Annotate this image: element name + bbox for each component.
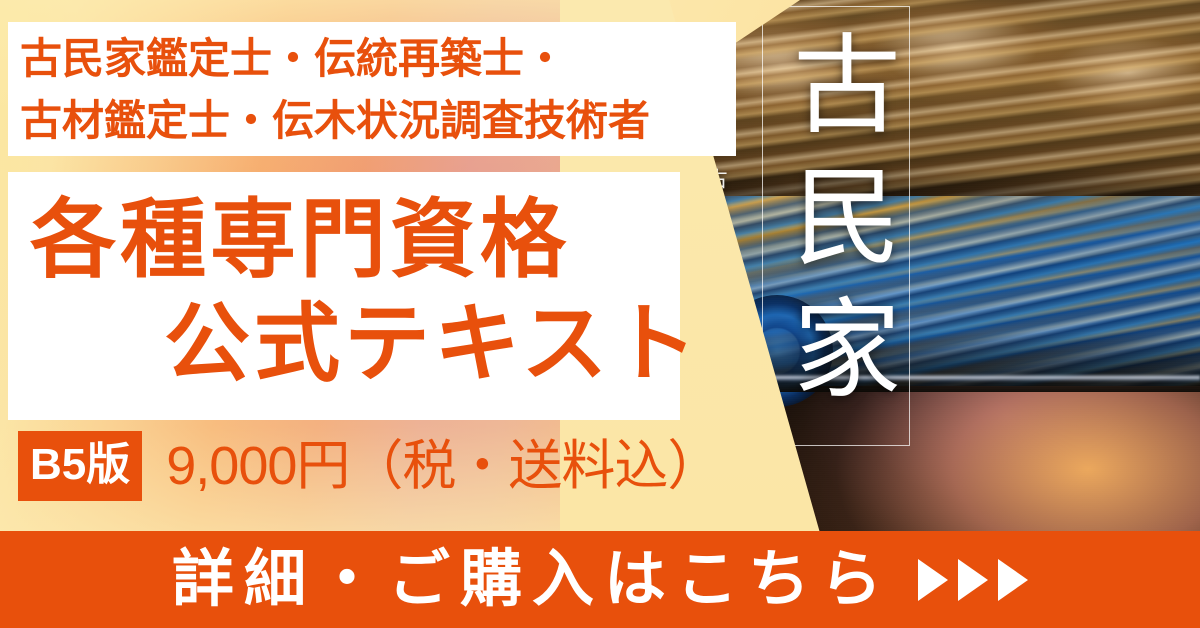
certifications-panel: 古民家鑑定士・伝統再築士・ 古材鑑定士・伝木状況調査技術者 [8,22,736,156]
certifications-line-1: 古民家鑑定士・伝統再築士・ [20,28,736,90]
chevron-right-icon [958,559,988,601]
cta-label: 詳細・ご購入はこちら [172,549,892,611]
book-size-badge: B5版 [18,431,142,501]
chevron-right-icon [998,559,1028,601]
main-title-panel: 各種専門資格 公式テキスト [8,172,680,420]
book-cover-title: 古民家 [762,6,910,446]
certifications-line-2: 古材鑑定士・伝木状況調査技術者 [20,90,736,152]
main-title-line-2: 公式テキスト [164,290,701,398]
chevron-right-icon [918,559,948,601]
price-amount: 9,000円（税・送料込） [166,439,720,493]
price-row: B5版 9,000円（税・送料込） [18,431,720,501]
main-title-line-1: 各種専門資格 [30,186,570,294]
promo-banner: 伝統構法、古民家活用のための調査と再生の 古民家 古民家鑑定士・伝統再築士・ 古… [0,0,1200,628]
cta-arrow-group [918,559,1028,601]
cta-button-bar[interactable]: 詳細・ご購入はこちら [0,531,1200,628]
